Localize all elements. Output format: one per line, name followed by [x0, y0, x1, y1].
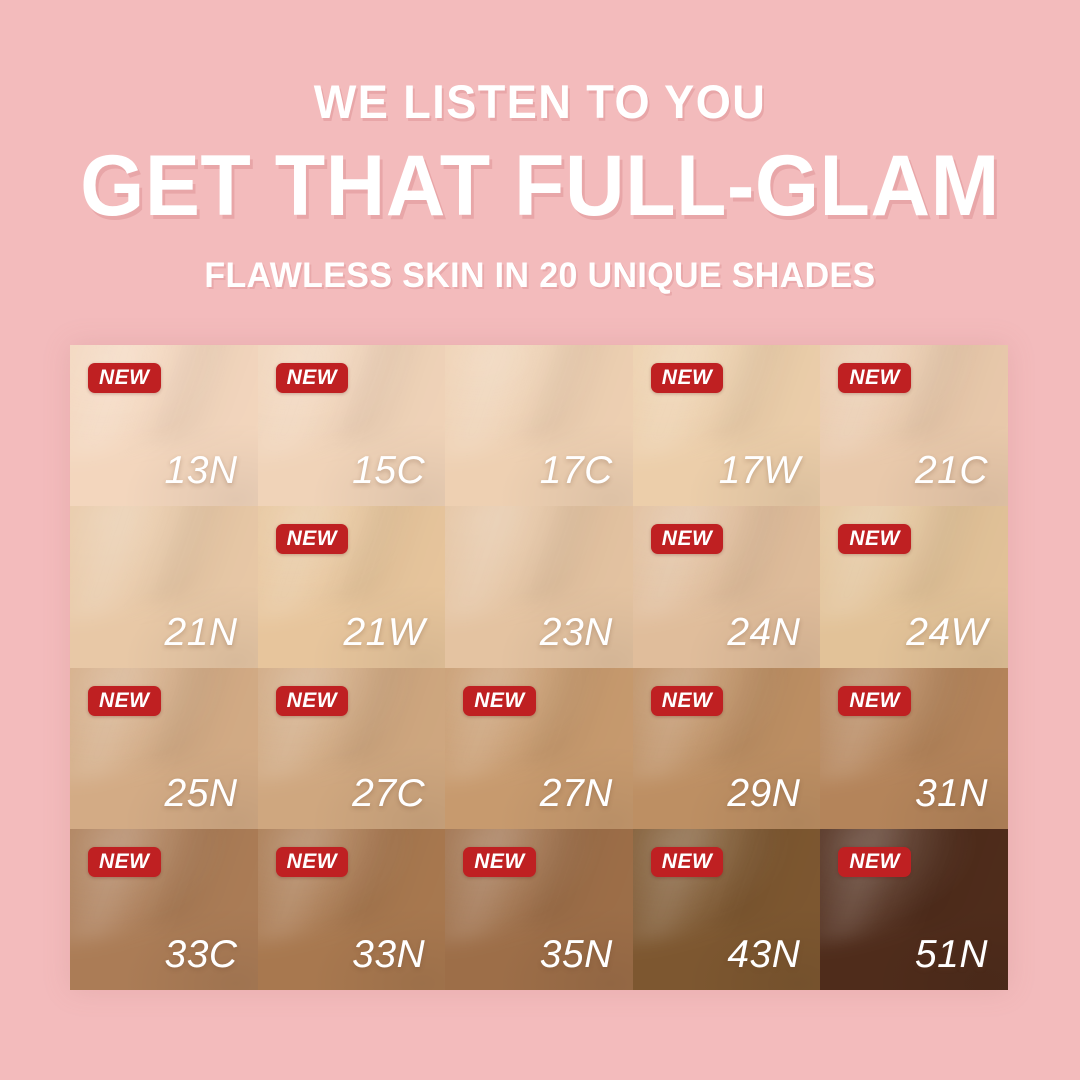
shade-swatch[interactable]: NEW24N: [633, 506, 821, 667]
shade-code-label: 29N: [727, 774, 800, 813]
shade-code-label: 25N: [165, 774, 238, 813]
shade-swatch[interactable]: NEW17W: [633, 345, 821, 506]
headline-subtitle: FLAWLESS SKIN IN 20 UNIQUE SHADES: [16, 258, 1064, 293]
new-badge: NEW: [88, 847, 161, 877]
shade-swatch[interactable]: NEW29N: [633, 668, 821, 829]
shade-code-label: 33C: [165, 935, 238, 974]
new-badge: NEW: [276, 847, 349, 877]
headline-eyebrow: WE LISTEN TO YOU: [22, 78, 1059, 125]
shade-code-label: 31N: [915, 774, 988, 813]
shade-code-label: 51N: [915, 935, 988, 974]
new-badge: NEW: [651, 686, 724, 716]
new-badge: NEW: [276, 686, 349, 716]
shade-code-label: 24W: [906, 613, 988, 652]
new-badge: NEW: [651, 363, 724, 393]
new-badge: NEW: [651, 524, 724, 554]
headline-block: WE LISTEN TO YOU GET THAT FULL-GLAM FLAW…: [0, 78, 1080, 293]
shade-code-label: 35N: [540, 935, 613, 974]
shade-swatch[interactable]: NEW31N: [820, 668, 1008, 829]
shade-code-label: 21W: [343, 613, 425, 652]
shade-code-label: 27N: [540, 774, 613, 813]
shade-swatch[interactable]: 23N: [445, 506, 633, 667]
new-badge: NEW: [838, 524, 911, 554]
shade-swatch[interactable]: NEW21C: [820, 345, 1008, 506]
shade-swatch[interactable]: NEW21W: [258, 506, 446, 667]
shade-swatch[interactable]: NEW27C: [258, 668, 446, 829]
shade-code-label: 21N: [165, 613, 238, 652]
new-badge: NEW: [463, 847, 536, 877]
shade-swatch[interactable]: NEW51N: [820, 829, 1008, 990]
shade-code-label: 24N: [727, 613, 800, 652]
shade-swatch[interactable]: NEW15C: [258, 345, 446, 506]
new-badge: NEW: [276, 524, 349, 554]
shade-code-label: 17C: [540, 451, 613, 490]
shade-grid: NEW13NNEW15C17CNEW17WNEW21C21NNEW21W23NN…: [70, 345, 1008, 990]
shade-swatch[interactable]: NEW25N: [70, 668, 258, 829]
shade-code-label: 33N: [352, 935, 425, 974]
new-badge: NEW: [276, 363, 349, 393]
new-badge: NEW: [88, 686, 161, 716]
shade-swatch[interactable]: NEW33N: [258, 829, 446, 990]
shade-swatch[interactable]: NEW24W: [820, 506, 1008, 667]
shade-code-label: 17W: [719, 451, 801, 490]
new-badge: NEW: [463, 686, 536, 716]
new-badge: NEW: [651, 847, 724, 877]
shade-code-label: 15C: [352, 451, 425, 490]
shade-swatch[interactable]: NEW27N: [445, 668, 633, 829]
shade-swatch[interactable]: NEW35N: [445, 829, 633, 990]
shade-code-label: 43N: [727, 935, 800, 974]
shade-swatch[interactable]: 21N: [70, 506, 258, 667]
headline-main: GET THAT FULL-GLAM: [22, 141, 1059, 232]
shade-swatch[interactable]: NEW13N: [70, 345, 258, 506]
shade-code-label: 27C: [352, 774, 425, 813]
new-badge: NEW: [838, 847, 911, 877]
new-badge: NEW: [838, 686, 911, 716]
new-badge: NEW: [838, 363, 911, 393]
shade-swatch[interactable]: NEW33C: [70, 829, 258, 990]
shade-code-label: 23N: [540, 613, 613, 652]
shade-code-label: 13N: [165, 451, 238, 490]
shade-swatch[interactable]: NEW43N: [633, 829, 821, 990]
shade-swatch[interactable]: 17C: [445, 345, 633, 506]
shade-code-label: 21C: [915, 451, 988, 490]
new-badge: NEW: [88, 363, 161, 393]
